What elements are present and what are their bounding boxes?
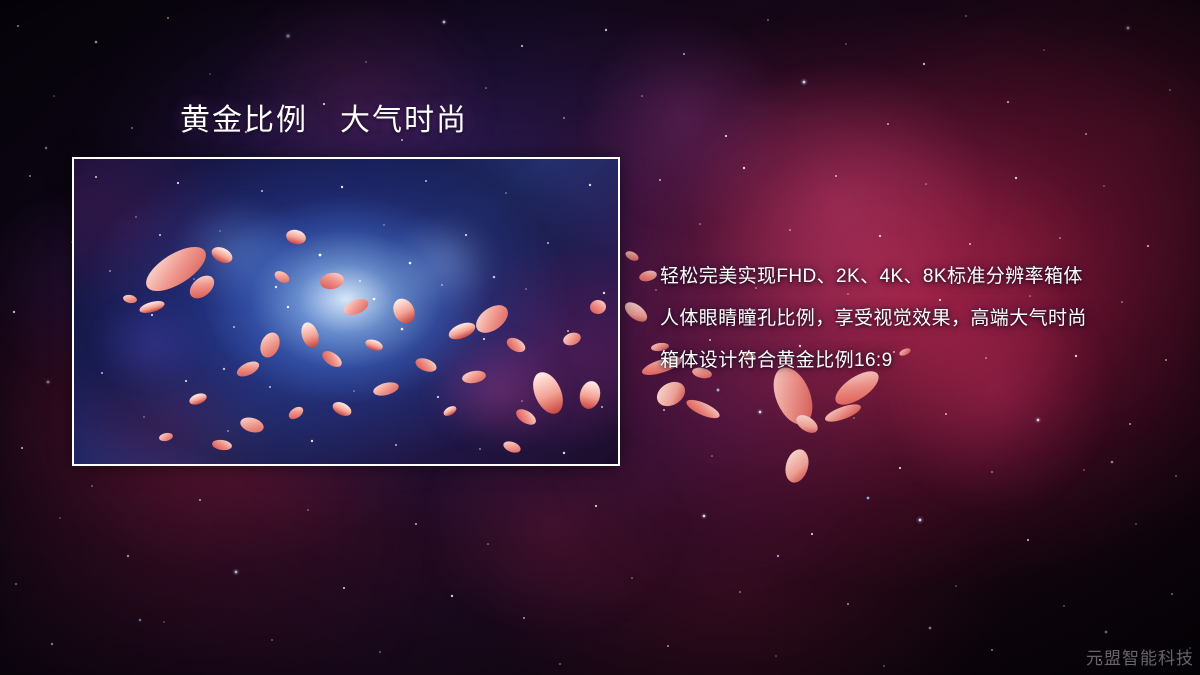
watermark: 元盟智能科技 xyxy=(1086,644,1194,669)
description-line-3: 箱体设计符合黄金比例16:9 xyxy=(660,340,1180,382)
description-line-2: 人体眼睛瞳孔比例，享受视觉效果，高端大气时尚 xyxy=(660,298,1180,340)
preview-starfield xyxy=(74,159,618,464)
preview-image-frame xyxy=(72,157,620,466)
description-text-block: 轻松完美实现FHD、2K、4K、8K标准分辨率箱体 人体眼睛瞳孔比例，享受视觉效… xyxy=(660,256,1180,382)
preview-image xyxy=(74,159,618,464)
presentation-slide: 黄金比例 大气时尚 xyxy=(0,0,1200,675)
description-line-1: 轻松完美实现FHD、2K、4K、8K标准分辨率箱体 xyxy=(660,256,1180,298)
page-title: 黄金比例 大气时尚 xyxy=(180,101,468,141)
